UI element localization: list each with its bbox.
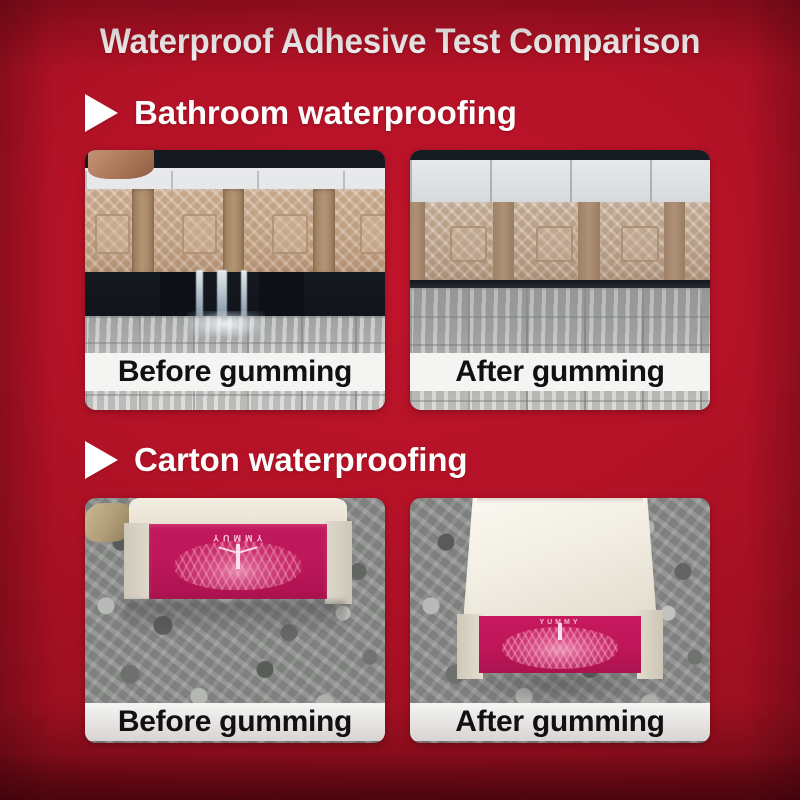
- textured-wall-panel: [85, 189, 385, 275]
- page-title: Waterproof Adhesive Test Comparison: [22, 22, 778, 62]
- caption-label: After gumming: [455, 355, 664, 389]
- bottom-shade: [0, 754, 800, 800]
- caption-band: After gumming: [410, 703, 710, 741]
- photo-bathroom-before: Before gumming: [85, 150, 385, 410]
- tree-trunk: [236, 544, 240, 569]
- carton-lid-fold: [477, 498, 643, 503]
- panel-emblem: [272, 214, 307, 254]
- panel-emblem: [95, 214, 130, 254]
- caption-band: Before gumming: [85, 703, 385, 741]
- section-heading-label: Bathroom waterproofing: [134, 94, 517, 132]
- carton-brand-text: YUMMY: [199, 533, 281, 543]
- water-splash: [187, 311, 265, 337]
- carton-box: YUMMY: [124, 498, 352, 613]
- panel-seam: [223, 189, 245, 275]
- carton-right-face: [325, 521, 352, 604]
- floor-gloss: [410, 288, 710, 330]
- carton-box: YUMMY: [461, 498, 659, 687]
- photo-card-carton-after: YUMMY After gumming: [410, 498, 710, 743]
- panel-emblem: [536, 226, 574, 262]
- panel-emblem: [360, 214, 385, 254]
- panel-seam: [493, 202, 514, 283]
- panel-seam: [410, 202, 425, 283]
- photo-carton-before: YUMMY Before gumming: [85, 498, 385, 743]
- poster-canvas: Waterproof Adhesive Test Comparison Bath…: [0, 0, 800, 800]
- caption-label: Before gumming: [118, 355, 352, 389]
- wet-patch: [124, 601, 346, 635]
- caption-label: After gumming: [455, 705, 664, 739]
- photo-card-bathroom-after: After gumming: [410, 150, 710, 410]
- section-heading-carton: Carton waterproofing: [85, 438, 468, 482]
- panel-emblem: [450, 226, 488, 262]
- play-triangle-icon: [85, 441, 118, 479]
- photo-bathroom-after: After gumming: [410, 150, 710, 410]
- photo-card-carton-before: YUMMY Before gumming: [85, 498, 385, 743]
- carton-brand-panel: YUMMY: [149, 524, 327, 599]
- panel-emblem: [621, 226, 659, 262]
- panel-seam: [578, 202, 599, 283]
- carton-brand-text: YUMMY: [518, 619, 602, 626]
- photo-card-bathroom-before: Before gumming: [85, 150, 385, 410]
- caption-band: After gumming: [410, 353, 710, 391]
- panel-seam: [132, 189, 154, 275]
- carton-brand-panel: YUMMY: [479, 616, 641, 673]
- hand: [88, 150, 154, 179]
- panel-seam: [664, 202, 685, 283]
- photo-carton-after: YUMMY After gumming: [410, 498, 710, 743]
- wall-tile-seams: [410, 160, 710, 207]
- caption-band: Before gumming: [85, 353, 385, 391]
- panel-seam: [313, 189, 335, 275]
- panel-emblem: [182, 214, 217, 254]
- caption-label: Before gumming: [118, 705, 352, 739]
- play-triangle-icon: [85, 94, 118, 132]
- textured-wall-panel: [410, 202, 710, 283]
- section-heading-label: Carton waterproofing: [134, 441, 468, 479]
- section-heading-bathroom: Bathroom waterproofing: [85, 91, 517, 135]
